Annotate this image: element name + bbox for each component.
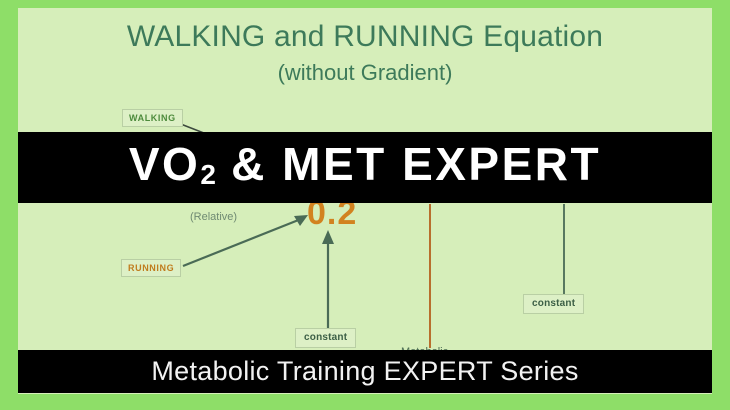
badge-running: RUNNING [121,259,181,277]
main-title-subscript: 2 [200,159,216,190]
page-subtitle: (without Gradient) [18,60,712,86]
screenshot-root: WALKING and RUNNING Equation (without Gr… [0,0,730,410]
badge-constant-right: constant [523,294,584,314]
label-relative: (Relative) [190,211,237,223]
main-title-text: VO2 & MET EXPERT [129,141,601,194]
page-title: WALKING and RUNNING Equation [18,20,712,54]
main-title-banner: VO2 & MET EXPERT [18,132,712,203]
series-banner-text: Metabolic Training EXPERT Series [151,356,578,387]
badge-walking: WALKING [122,109,183,127]
main-title-prefix: VO [129,138,200,190]
badge-constant-left: constant [295,328,356,348]
main-title-suffix: & MET EXPERT [216,138,601,190]
series-banner: Metabolic Training EXPERT Series [18,350,712,393]
